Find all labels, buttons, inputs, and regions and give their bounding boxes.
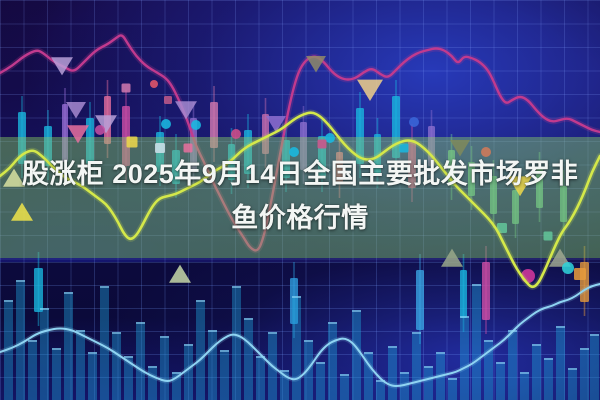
title-line-1: 股涨柜 2025年9月14日全国主要批发市场罗非	[0, 152, 600, 196]
page-title: 股涨柜 2025年9月14日全国主要批发市场罗非 鱼价格行情	[0, 152, 600, 240]
chart-banner: 股涨柜 2025年9月14日全国主要批发市场罗非 鱼价格行情	[0, 0, 600, 400]
title-line-2: 鱼价格行情	[0, 196, 600, 240]
